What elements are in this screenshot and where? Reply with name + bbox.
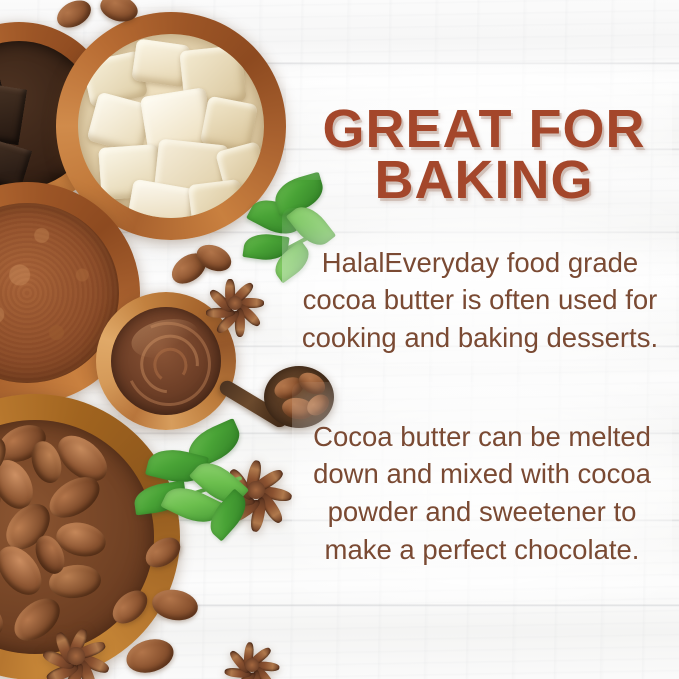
headline-line-one: GREAT FOR — [292, 104, 676, 155]
description-paragraph-two: Cocoa butter can be melted down and mixe… — [294, 418, 670, 570]
chocolate-chunk — [0, 81, 27, 145]
mint-leaves — [134, 428, 284, 548]
cacao-bean — [0, 585, 11, 646]
cocoa-butter-chunk — [188, 179, 244, 218]
page-title: GREAT FOR BAKING — [292, 104, 676, 207]
headline-line-two: BAKING — [292, 155, 676, 206]
bowl-interior — [78, 34, 264, 218]
star-anise-icon — [40, 620, 112, 679]
star-anise-icon — [223, 636, 281, 679]
description-paragraph-one: HalalEveryday food grade cocoa butter is… — [286, 244, 674, 358]
product-infographic-poster: GREAT FOR BAKING HalalEveryday food grad… — [0, 0, 679, 679]
